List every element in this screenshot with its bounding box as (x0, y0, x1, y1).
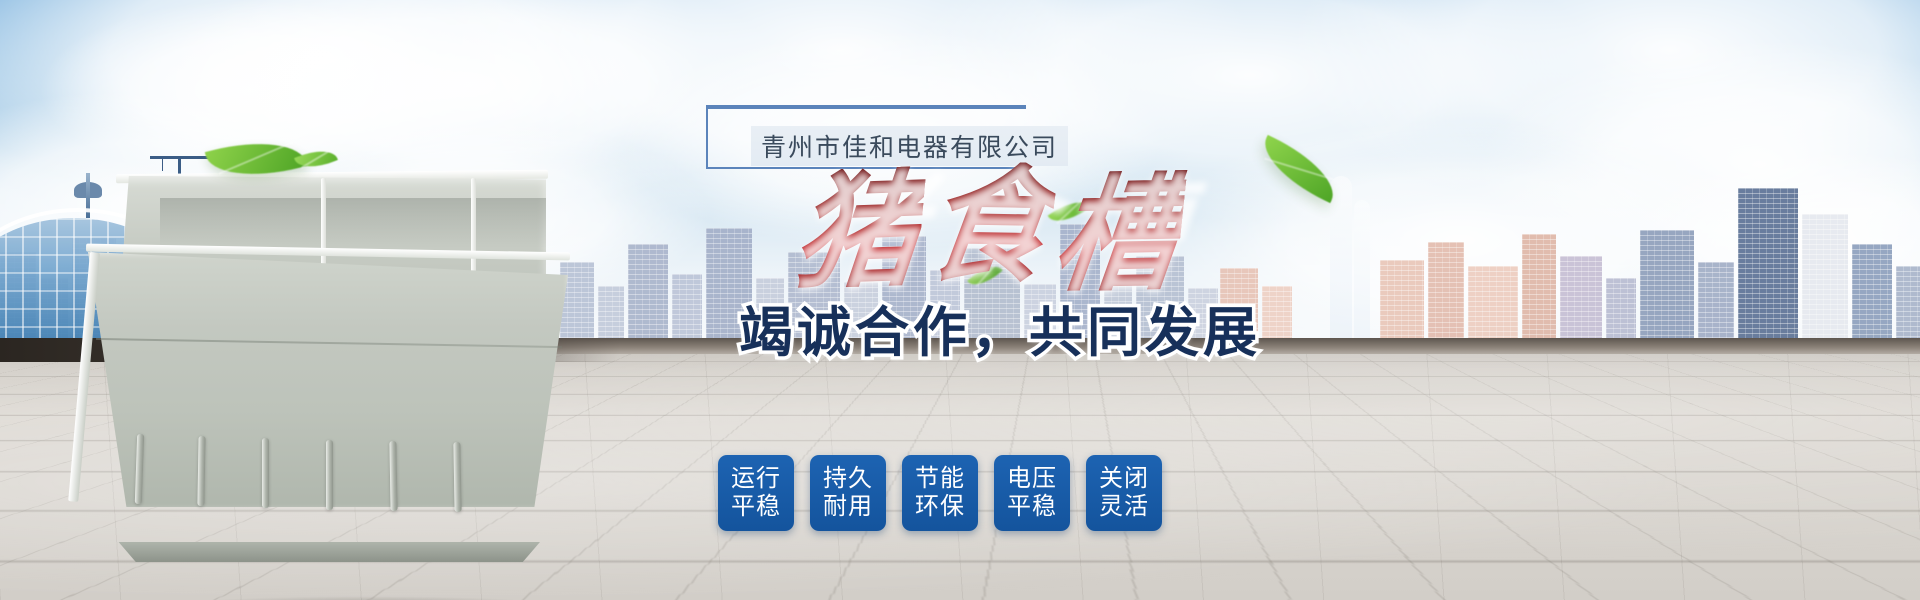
landmark-tower (1330, 176, 1352, 348)
building (1468, 266, 1518, 348)
building (1428, 242, 1464, 348)
trough-feed-bar (197, 436, 205, 506)
badge-line-1: 运行 (731, 465, 781, 493)
trough-inner-shadow (160, 198, 580, 248)
badge-line-1: 电压 (1007, 465, 1057, 493)
badge-line-2: 灵活 (1099, 493, 1149, 521)
trough-base (110, 542, 540, 562)
badge-line-2: 平稳 (731, 493, 781, 521)
building (672, 274, 702, 348)
feature-badge-3[interactable]: 节能 环保 (902, 455, 978, 531)
building (1560, 256, 1602, 348)
building (1802, 214, 1848, 348)
badge-line-1: 持久 (823, 465, 873, 493)
building (1852, 244, 1892, 348)
trough-feed-bar (389, 441, 397, 511)
page-title: 猪 食 槽 (718, 166, 1258, 296)
product-ground-shadow (146, 596, 586, 600)
trough-feed-bar (453, 442, 461, 512)
badge-line-2: 环保 (915, 493, 965, 521)
badge-line-1: 节能 (915, 465, 965, 493)
feature-badge-list: 运行 平稳 持久 耐用 节能 环保 电压 平稳 关闭 灵活 (718, 455, 1162, 531)
building (1698, 262, 1734, 348)
subtitle-slogan: 竭诚合作，共同发展 (700, 288, 1300, 367)
title-char-1: 猪 (789, 166, 927, 296)
feature-badge-5[interactable]: 关闭 灵活 (1086, 455, 1162, 531)
title-char-3: 槽 (1048, 170, 1188, 298)
landmark-tower (1354, 200, 1370, 348)
building (1522, 234, 1556, 348)
building (1896, 266, 1920, 348)
building (1380, 260, 1424, 348)
title-char-2: 食 (918, 161, 1059, 289)
trough-feed-bar (326, 440, 333, 510)
product-image-feeding-trough (76, 160, 566, 460)
feature-badge-2[interactable]: 持久 耐用 (810, 455, 886, 531)
trough-feed-bar (262, 438, 269, 508)
building (1738, 188, 1798, 348)
feature-badge-4[interactable]: 电压 平稳 (994, 455, 1070, 531)
badge-line-2: 平稳 (1007, 493, 1057, 521)
badge-line-1: 关闭 (1099, 465, 1149, 493)
badge-line-2: 耐用 (823, 493, 873, 521)
building (628, 244, 668, 348)
building (1640, 230, 1694, 348)
feature-badge-1[interactable]: 运行 平稳 (718, 455, 794, 531)
promotional-banner: 青州市佳和电器有限公司 猪 食 槽 竭诚合作，共同发展 运行 平稳 持久 耐用 … (0, 0, 1920, 600)
